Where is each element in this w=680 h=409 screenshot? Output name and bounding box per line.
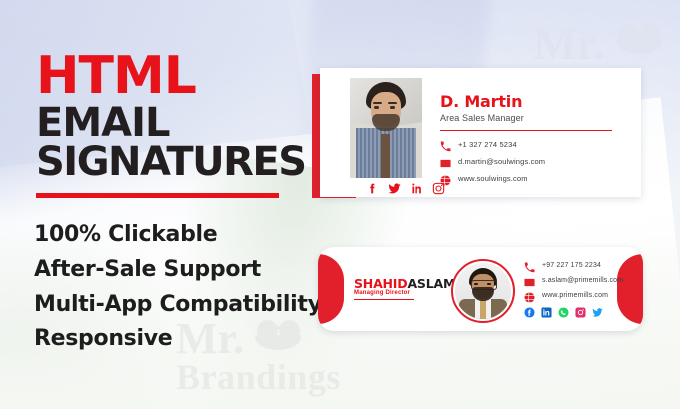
whatsapp-icon[interactable] <box>558 305 569 316</box>
card1-email-row[interactable]: d.martin@soulwings.com <box>440 154 620 169</box>
signature-card-1-portrait <box>350 78 422 178</box>
card2-role-underline <box>354 299 414 300</box>
mustache-glasses-icon <box>616 22 672 56</box>
headline-line-html: HTML <box>36 52 308 101</box>
card2-name-first: SHAHID <box>354 276 407 291</box>
twitter-icon[interactable] <box>388 182 401 195</box>
feature-item: 100% Clickable <box>34 218 334 253</box>
card2-name-last: ASLAM <box>407 276 455 291</box>
promo-banner: Mr. Mr. Brandings HTML EMAIL SIGNATURES … <box>0 0 680 409</box>
card1-divider <box>440 130 612 131</box>
headline-underline <box>36 193 279 198</box>
facebook-icon[interactable] <box>524 305 535 316</box>
feature-list: 100% Clickable After-Sale Support Multi-… <box>34 218 334 357</box>
card2-phone-row[interactable]: +97 227 175 2234 <box>524 259 643 272</box>
signature-card-1-info: D. Martin Area Sales Manager +1 327 274 … <box>440 92 620 188</box>
card1-phone: +1 327 274 5234 <box>458 140 517 149</box>
phone-icon <box>440 139 451 150</box>
signature-card-1-social-row <box>366 182 445 195</box>
card2-website-row[interactable]: www.primemills.com <box>524 289 643 302</box>
card1-email: d.martin@soulwings.com <box>458 157 545 166</box>
twitter-icon[interactable] <box>592 305 603 316</box>
signature-card-2-info: +97 227 175 2234 s.aslam@primemills.com … <box>524 259 643 304</box>
card1-website: www.soulwings.com <box>458 174 528 183</box>
linkedin-icon[interactable] <box>410 182 423 195</box>
card1-name: D. Martin <box>440 92 620 111</box>
instagram-icon[interactable] <box>432 182 445 195</box>
headline-block: HTML EMAIL SIGNATURES <box>36 52 308 198</box>
card1-website-row[interactable]: www.soulwings.com <box>440 171 620 186</box>
card2-name: SHAHIDASLAM <box>354 276 455 291</box>
instagram-icon[interactable] <box>575 305 586 316</box>
card2-arc-left <box>318 254 344 324</box>
signature-card-2-portrait <box>451 259 515 323</box>
feature-item: After-Sale Support <box>34 253 334 288</box>
signature-card-2-social-row <box>524 305 603 316</box>
headline-line-signatures: SIGNATURES <box>36 144 308 182</box>
envelope-icon <box>440 156 451 167</box>
feature-item: Responsive <box>34 322 334 357</box>
card2-phone: +97 227 175 2234 <box>542 262 601 269</box>
card2-role: Managing Director <box>354 290 410 296</box>
card1-phone-row[interactable]: +1 327 274 5234 <box>440 137 620 152</box>
card2-email: s.aslam@primemills.com <box>542 277 623 284</box>
facebook-icon[interactable] <box>366 182 379 195</box>
linkedin-icon[interactable] <box>541 305 552 316</box>
globe-icon <box>524 290 535 301</box>
watermark-line1: Mr. <box>533 18 604 69</box>
card2-email-row[interactable]: s.aslam@primemills.com <box>524 274 643 287</box>
watermark-top-right: Mr. <box>533 22 672 66</box>
watermark-line2: Brandings <box>176 360 341 395</box>
phone-icon <box>524 260 535 271</box>
envelope-icon <box>524 275 535 286</box>
card2-website: www.primemills.com <box>542 292 608 299</box>
card1-role: Area Sales Manager <box>440 113 620 123</box>
signature-card-2: SHAHIDASLAM Managing Director +97 227 17… <box>318 247 643 331</box>
headline-line-email: EMAIL <box>36 105 308 143</box>
feature-item: Multi-App Compatibility <box>34 288 334 323</box>
